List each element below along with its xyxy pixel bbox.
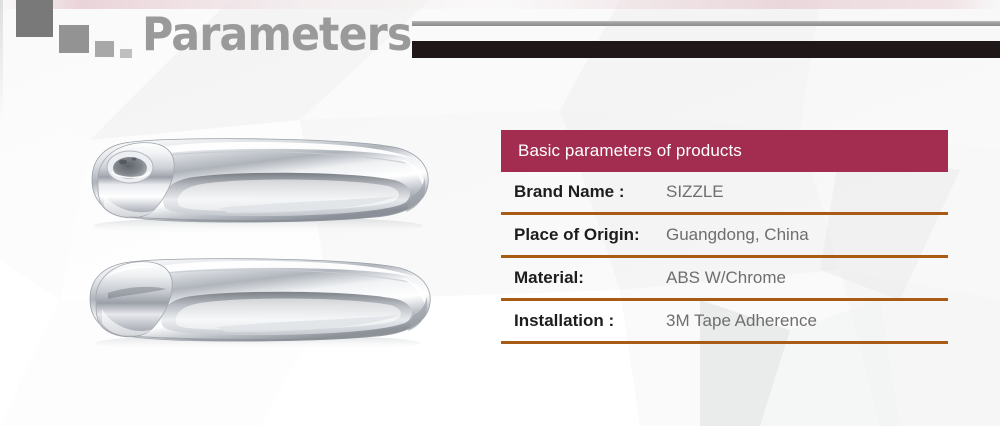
basic-parameters-table: Basic parameters of products Brand Name … [501,130,948,344]
product-image-handle-with-keyhole [68,122,438,237]
row-label-installation: Installation : [514,311,666,331]
table-row: Material: ABS W/Chrome [501,258,948,301]
parameters-banner: Parameters [0,0,1000,426]
decor-square-tiny [120,49,132,58]
header-bar-thick [412,41,1000,58]
table-row: Brand Name : SIZZLE [501,172,948,215]
table-row: Place of Origin: Guangdong, China [501,215,948,258]
row-value-brand-name: SIZZLE [666,182,724,202]
product-image-handle-plain [68,243,438,353]
page-title: Parameters [142,8,411,60]
row-label-brand-name: Brand Name : [514,182,666,202]
row-value-material: ABS W/Chrome [666,268,786,288]
row-value-installation: 3M Tape Adherence [666,311,817,331]
table-header: Basic parameters of products [501,130,948,172]
table-row: Installation : 3M Tape Adherence [501,301,948,344]
row-label-place-of-origin: Place of Origin: [514,225,666,245]
row-value-place-of-origin: Guangdong, China [666,225,809,245]
header-bar-thin [412,21,1000,26]
decor-square-medium [59,25,89,53]
decor-square-small [95,41,114,57]
table-header-label: Basic parameters of products [518,141,742,161]
product-image-area [40,110,470,370]
decor-square-large [16,0,53,37]
left-edge-shade [0,0,3,120]
row-label-material: Material: [514,268,666,288]
